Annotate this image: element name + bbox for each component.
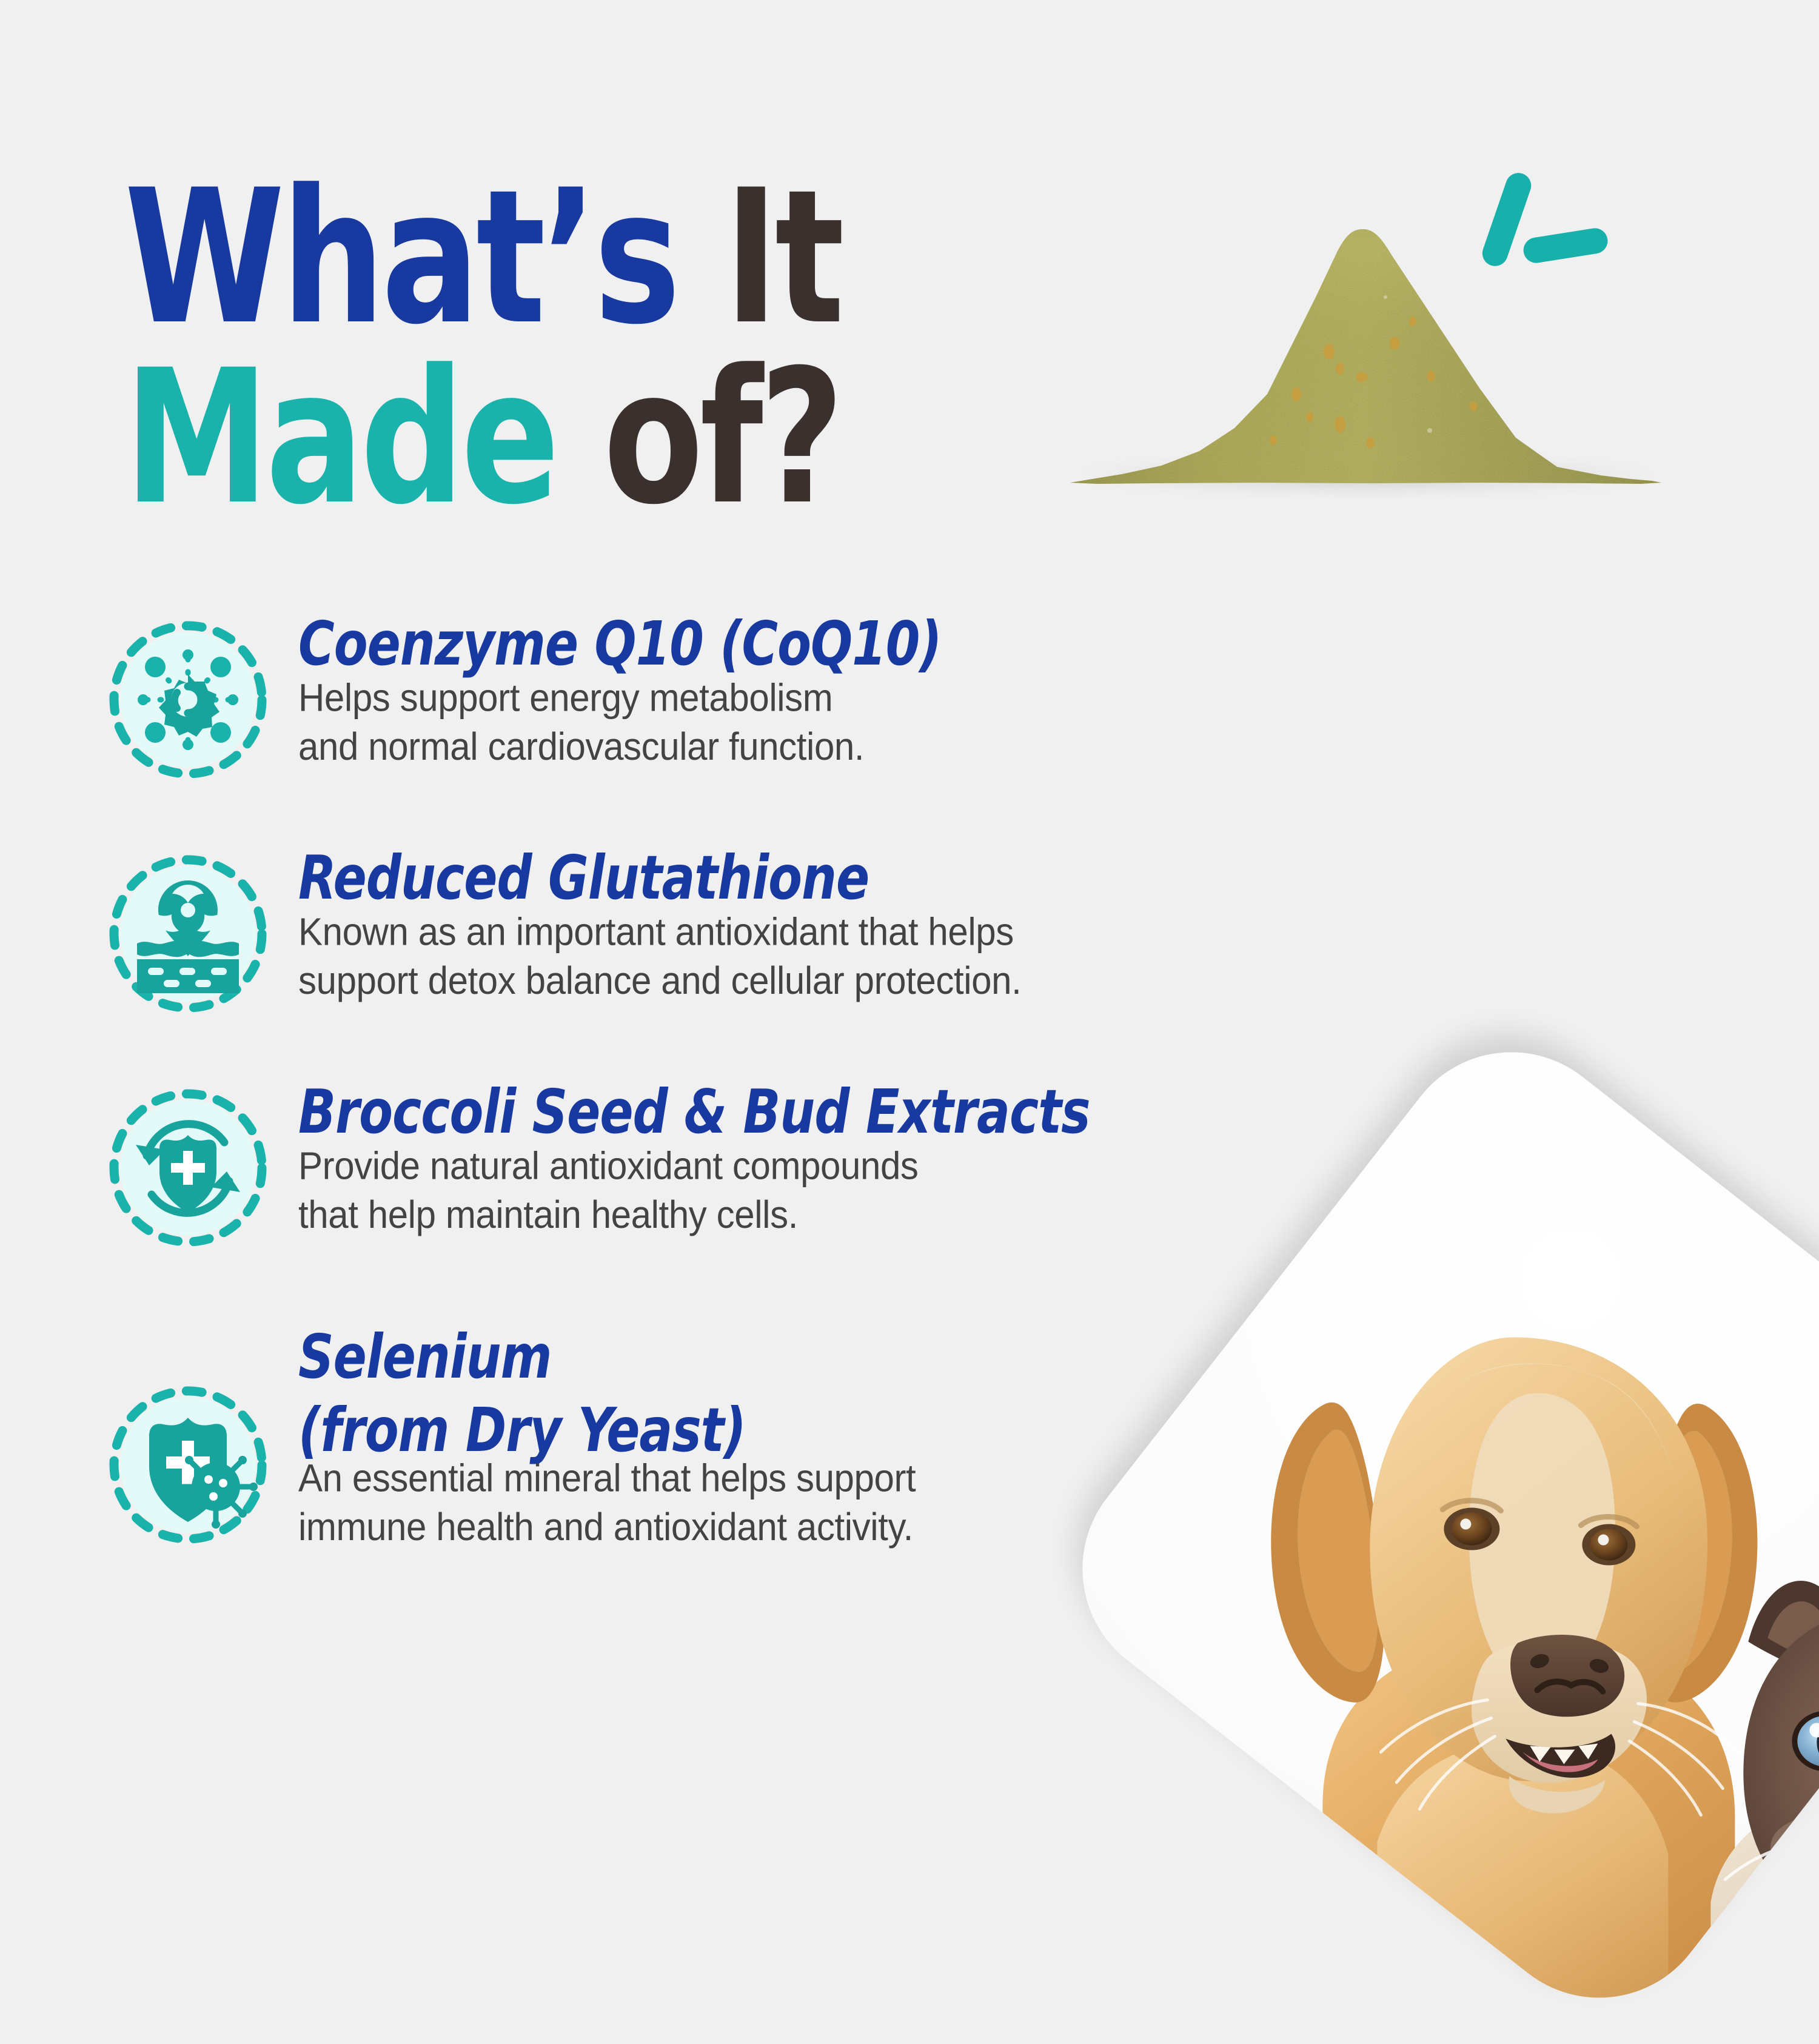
ingredient-title-line: Broccoli Seed & Bud Extracts	[298, 1082, 1090, 1142]
ingredient-desc-line: support detox balance and cellular prote…	[298, 956, 1021, 1005]
ingredient-title: Coenzyme Q10 (CoQ10)	[298, 614, 942, 674]
molecule-network-icon	[103, 615, 273, 785]
ingredient-title-line: Reduced Glutathione	[298, 848, 1007, 908]
list-item: Broccoli Seed & Bud Extracts Provide nat…	[0, 1074, 1273, 1253]
title-line-2: Made of?	[124, 347, 1067, 528]
ingredient-text: Selenium (from Dry Yeast) An essential m…	[273, 1319, 916, 1546]
shield-renew-icon	[103, 1083, 273, 1253]
ingredient-text: Reduced Glutathione Known as an importan…	[273, 840, 1021, 999]
ingredient-desc-line: and normal cardiovascular function.	[298, 722, 954, 771]
title-word-of: of?	[603, 330, 840, 545]
powder-pile-image	[1055, 224, 1673, 485]
list-item: Selenium (from Dry Yeast) An essential m…	[0, 1319, 1273, 1550]
ingredient-desc-line: An essential mineral that helps support	[298, 1454, 916, 1503]
ingredient-desc-line: immune health and antioxidant activity.	[298, 1503, 916, 1551]
powder-pile-graphic	[1055, 224, 1673, 485]
ingredient-desc-line: that help maintain healthy cells.	[298, 1190, 1106, 1239]
ingredient-description: An essential mineral that helps support …	[298, 1454, 916, 1551]
shield-virus-icon	[103, 1380, 273, 1550]
list-item: Coenzyme Q10 (CoQ10) Helps support energ…	[0, 606, 1273, 785]
ingredient-title-line: (from Dry Yeast)	[298, 1400, 903, 1461]
title-line-1: What’s It	[124, 167, 1067, 348]
ingredient-desc-line: Helps support energy metabolism	[298, 674, 954, 722]
title-word-made: Made	[124, 330, 556, 545]
page-title: What’s It Made of?	[124, 167, 1107, 495]
ingredient-list: Coenzyme Q10 (CoQ10) Helps support energ…	[0, 606, 1273, 1596]
ingredient-description: Provide natural antioxidant compounds th…	[298, 1142, 1106, 1239]
ingredient-description: Known as an important antioxidant that h…	[298, 908, 1021, 1005]
ingredient-text: Broccoli Seed & Bud Extracts Provide nat…	[273, 1074, 1106, 1233]
ingredient-title-line: Selenium	[298, 1327, 903, 1387]
dog-graphic	[1271, 1338, 1757, 2044]
ingredient-title: Broccoli Seed & Bud Extracts	[298, 1082, 1090, 1142]
ingredient-text: Coenzyme Q10 (CoQ10) Helps support energ…	[273, 606, 954, 765]
ingredient-description: Helps support energy metabolism and norm…	[298, 674, 954, 771]
ingredient-desc-line: Provide natural antioxidant compounds	[298, 1142, 1106, 1190]
ingredient-title: Selenium (from Dry Yeast)	[298, 1327, 903, 1461]
ingredient-title: Reduced Glutathione	[298, 848, 1007, 908]
list-item: Reduced Glutathione Known as an importan…	[0, 840, 1273, 1019]
detox-water-filter-icon	[103, 849, 273, 1019]
virus-glyph	[174, 1445, 258, 1529]
ingredient-desc-line: Known as an important antioxidant that h…	[298, 908, 1021, 956]
ingredient-title-line: Coenzyme Q10 (CoQ10)	[298, 614, 942, 674]
